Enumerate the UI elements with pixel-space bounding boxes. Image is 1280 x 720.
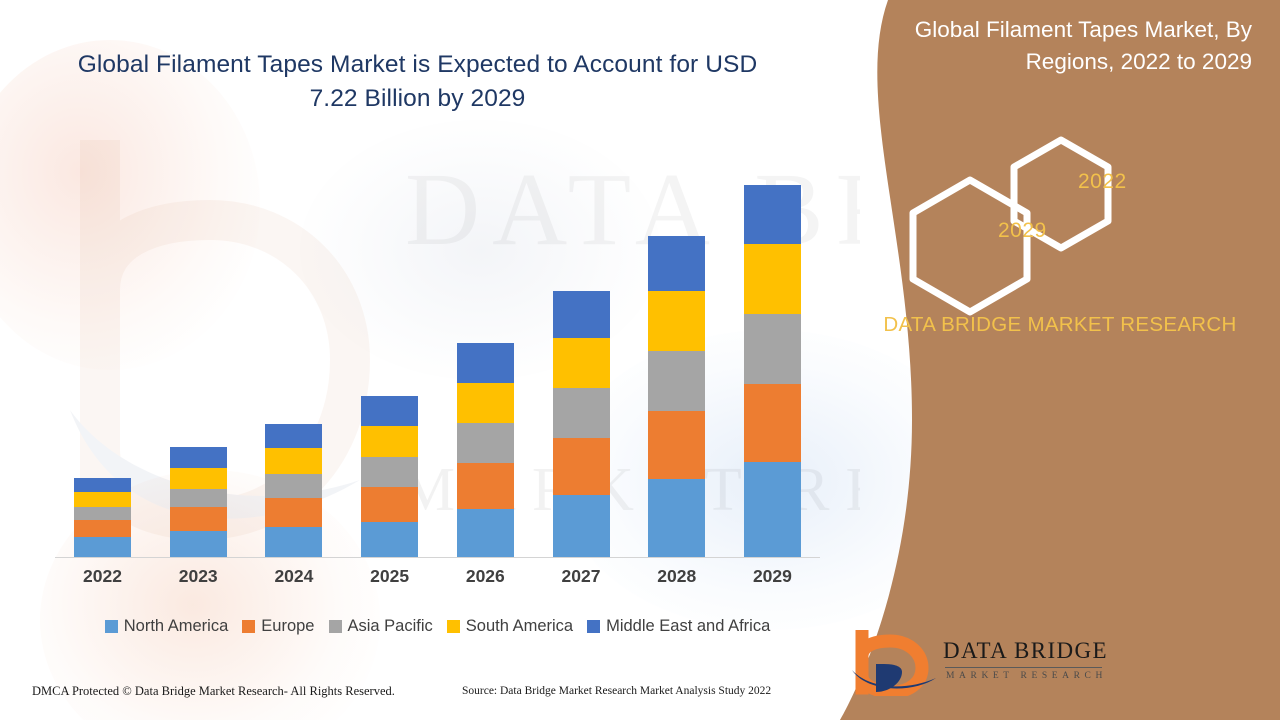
bar-column-2026 [438,150,533,557]
bar-segment [170,507,227,531]
bar-column-2027 [534,150,629,557]
legend-item[interactable]: Asia Pacific [329,617,433,636]
bar-segment [744,185,801,244]
bar-segment [170,468,227,489]
legend-label: Europe [261,617,314,636]
bar-segment [74,520,131,537]
data-bridge-logo: DATA BRIDGE MARKET RESEARCH [850,630,1110,700]
bar-segment [74,507,131,520]
bar-segment [74,478,131,492]
legend-swatch-icon [105,620,118,633]
bar-segment [744,244,801,314]
bar-segment [457,383,514,423]
bar-segment [74,537,131,557]
bar-segment [361,457,418,487]
bar-segment [648,351,705,411]
bar-segment [265,474,322,498]
legend-item[interactable]: Europe [242,617,314,636]
legend-label: Asia Pacific [348,617,433,636]
bar-segment [361,522,418,557]
x-axis-label-2026: 2026 [438,566,533,587]
legend-item[interactable]: South America [447,617,573,636]
data-bridge-mark-icon [850,630,940,696]
bar-segment [648,236,705,291]
infographic-canvas: DATA BRIDGE MARKET RESEARCH Global Filam… [0,0,1280,720]
bar-stack [361,396,418,557]
bar-segment [744,314,801,384]
bar-segment [553,438,610,495]
legend-swatch-icon [242,620,255,633]
bar-segment [74,492,131,507]
bar-stack [74,478,131,557]
bar-segment [457,343,514,383]
footer: DMCA Protected © Data Bridge Market Rese… [0,684,860,708]
legend-label: North America [124,617,229,636]
x-axis-label-2024: 2024 [246,566,341,587]
logo-wordmark: DATA BRIDGE [943,638,1108,664]
bar-segment [265,424,322,448]
bar-segment [170,447,227,468]
chart-legend: North AmericaEuropeAsia PacificSouth Ame… [55,617,820,636]
bar-segment [361,396,418,426]
x-axis-label-2023: 2023 [151,566,246,587]
legend-swatch-icon [329,620,342,633]
x-axis-label-2028: 2028 [629,566,724,587]
legend-swatch-icon [587,620,600,633]
bar-segment [361,487,418,522]
legend-label: South America [466,617,573,636]
bar-segment [457,463,514,509]
bar-segment [744,462,801,557]
bar-column-2024 [246,150,341,557]
bar-segment [457,423,514,463]
bar-column-2029 [725,150,820,557]
x-axis-label-2029: 2029 [725,566,820,587]
bar-segment [553,388,610,438]
footer-copyright: DMCA Protected © Data Bridge Market Rese… [32,684,395,699]
bar-segment [553,338,610,388]
x-axis-label-2027: 2027 [534,566,629,587]
bar-stack [648,236,705,557]
bar-segment [648,291,705,351]
bar-column-2022 [55,150,150,557]
panel-title: Global Filament Tapes Market, By Regions… [882,14,1252,78]
bar-segment [648,411,705,479]
bar-segment [170,489,227,507]
legend-item[interactable]: North America [105,617,229,636]
x-axis-line [55,557,820,558]
brand-name: DATA BRIDGE MARKET RESEARCH [860,310,1260,339]
bar-column-2023 [151,150,246,557]
legend-item[interactable]: Middle East and Africa [587,617,770,636]
page-title: Global Filament Tapes Market is Expected… [60,48,775,116]
legend-label: Middle East and Africa [606,617,770,636]
bar-column-2028 [629,150,724,557]
panel-background-shape [840,0,1280,720]
x-axis-label-2022: 2022 [55,566,150,587]
bar-segment [648,479,705,557]
bar-stack [170,447,227,557]
bar-column-2025 [342,150,437,557]
bar-segment [553,495,610,557]
bar-stack [553,291,610,557]
right-brand-panel: Global Filament Tapes Market, By Regions… [840,0,1280,720]
bar-segment [457,509,514,557]
footer-source: Source: Data Bridge Market Research Mark… [462,685,771,697]
chart-plot-area [55,150,820,558]
bar-segment [553,291,610,338]
bar-segment [265,498,322,527]
bar-stack [265,424,322,557]
logo-subtitle: MARKET RESEARCH [946,671,1107,681]
legend-swatch-icon [447,620,460,633]
bar-stack [744,185,801,557]
bar-stack [457,343,514,557]
stacked-bar-group [55,150,820,557]
bar-segment [170,531,227,557]
logo-divider [945,667,1102,668]
bar-segment [265,448,322,474]
x-axis-label-2025: 2025 [342,566,437,587]
x-axis-labels: 20222023202420252026202720282029 [55,566,820,587]
bar-segment [361,426,418,457]
bar-segment [265,527,322,557]
bar-segment [744,384,801,462]
